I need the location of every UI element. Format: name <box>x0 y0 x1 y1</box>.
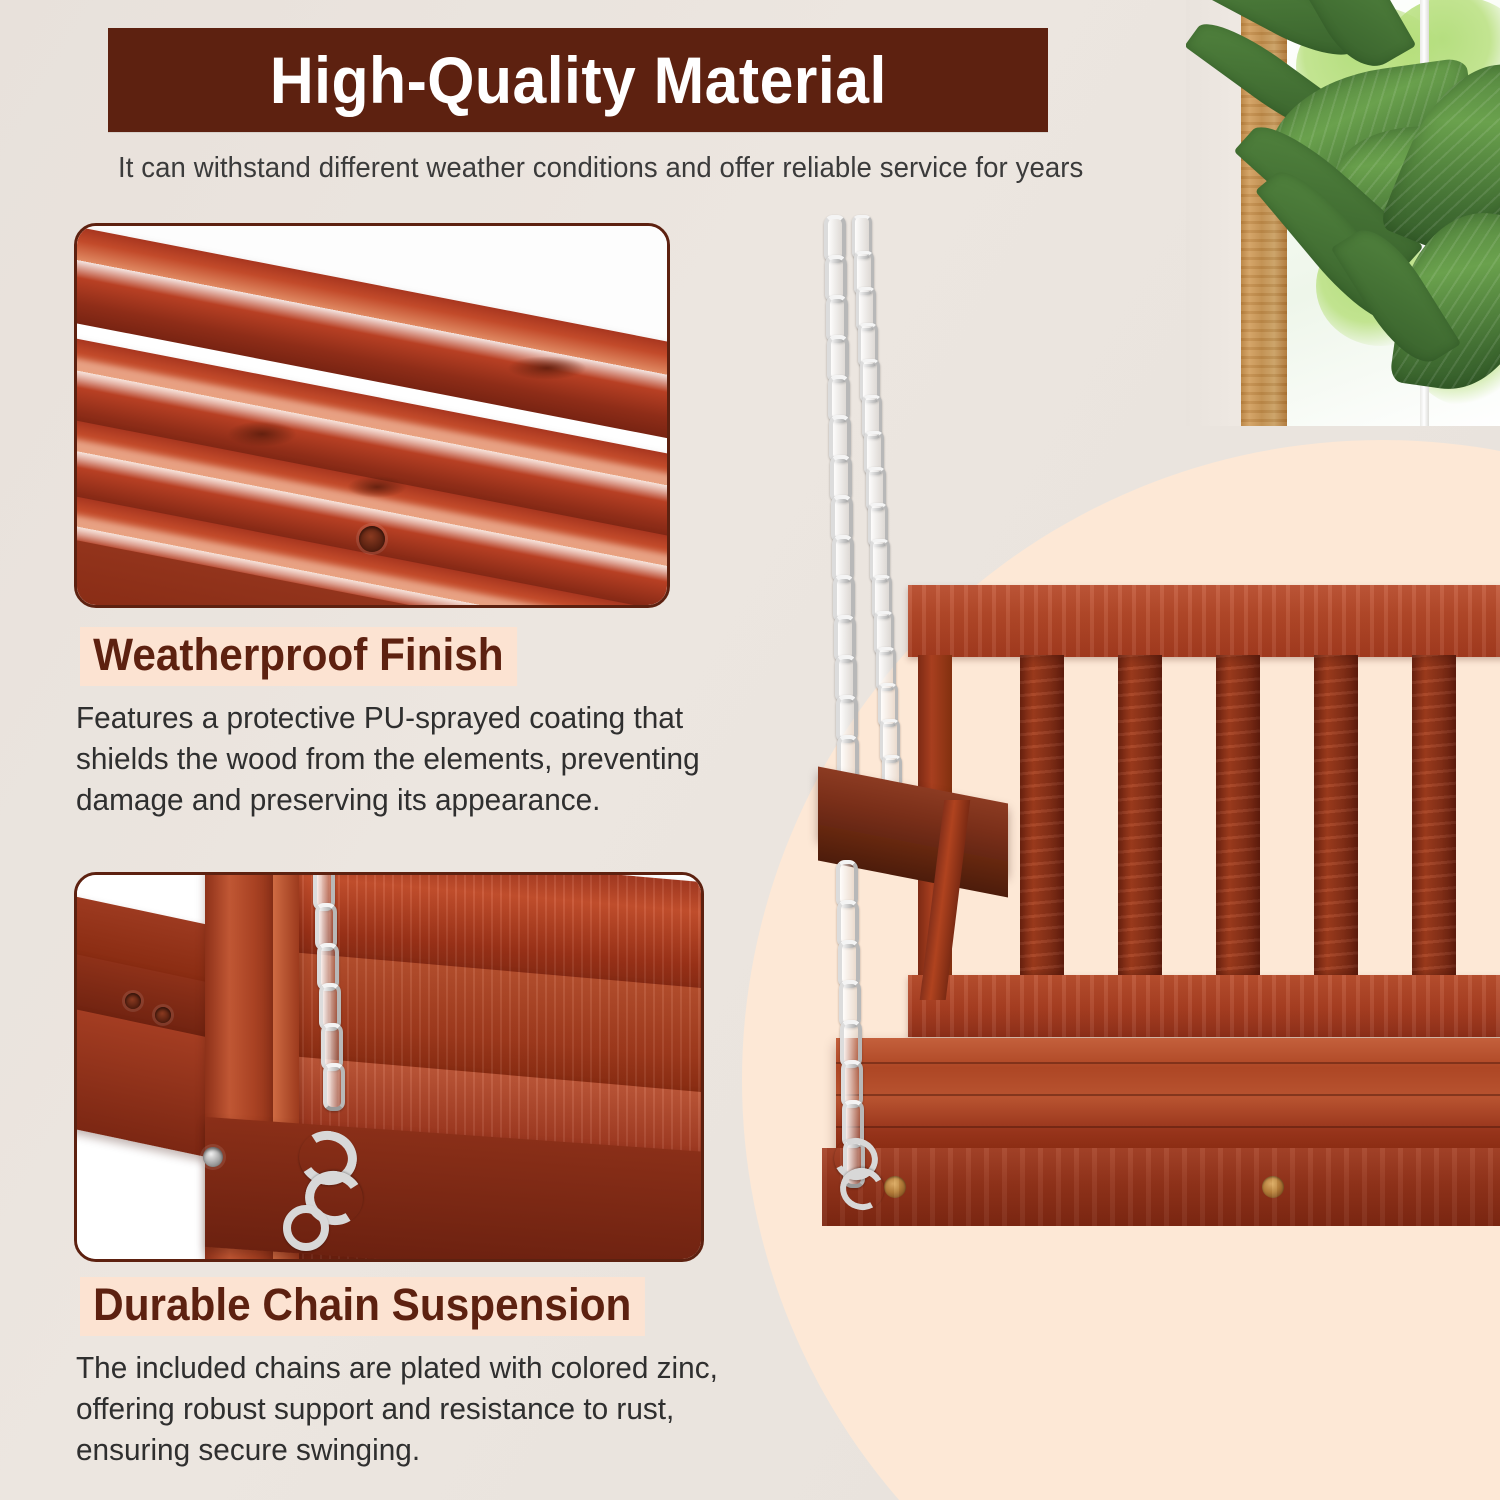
backrest-slat <box>1020 655 1064 977</box>
screw-icon <box>1262 1176 1284 1198</box>
feature-heading-chain: Durable Chain Suspension <box>80 1277 645 1336</box>
feature-body-line: shields the wood from the elements, prev… <box>76 738 806 779</box>
feature-heading-weatherproof: Weatherproof Finish <box>80 627 517 686</box>
feature-body-line: The included chains are plated with colo… <box>76 1347 940 1388</box>
feature-body-line: Features a protective PU-sprayed coating… <box>76 697 806 738</box>
backrest-slat <box>1314 655 1358 977</box>
feature-body-line: damage and preserving its appearance. <box>76 779 806 820</box>
backrest-bottom-rail <box>908 975 1500 1037</box>
bracket-screw-icon <box>203 1147 223 1167</box>
screw-icon <box>359 526 385 552</box>
screw-icon <box>884 1176 906 1198</box>
seat-front-board <box>822 1148 1500 1226</box>
page-subtitle: It can withstand different weather condi… <box>118 152 1220 185</box>
feature-photo-card-weatherproof <box>74 223 670 608</box>
infographic-canvas: High-Quality Material It can withstand d… <box>0 0 1500 1500</box>
feature-body-chain: The included chains are plated with colo… <box>76 1347 940 1471</box>
backrest-slat <box>1412 655 1456 977</box>
screw-icon <box>125 993 141 1009</box>
wood-closeup-photo <box>77 226 667 605</box>
feature-body-line: offering robust support and resistance t… <box>76 1388 940 1429</box>
porch-swing-product-photo <box>800 560 1500 1260</box>
chain-hook-closeup-photo <box>77 875 701 1259</box>
eye-bolt-ring-icon <box>283 1205 329 1251</box>
screw-icon <box>155 1007 171 1023</box>
page-title-banner: High-Quality Material <box>108 28 1048 132</box>
backrest-top-rail <box>908 585 1500 657</box>
feature-photo-card-chain <box>74 872 704 1262</box>
backrest-slat <box>1118 655 1162 977</box>
window-plant-scene <box>1186 0 1500 426</box>
seat-slats <box>836 1038 1500 1158</box>
feature-body-line: ensuring secure swinging. <box>76 1429 940 1470</box>
backrest-slat <box>1216 655 1260 977</box>
page-title: High-Quality Material <box>270 47 887 113</box>
feature-body-weatherproof: Features a protective PU-sprayed coating… <box>76 697 806 821</box>
